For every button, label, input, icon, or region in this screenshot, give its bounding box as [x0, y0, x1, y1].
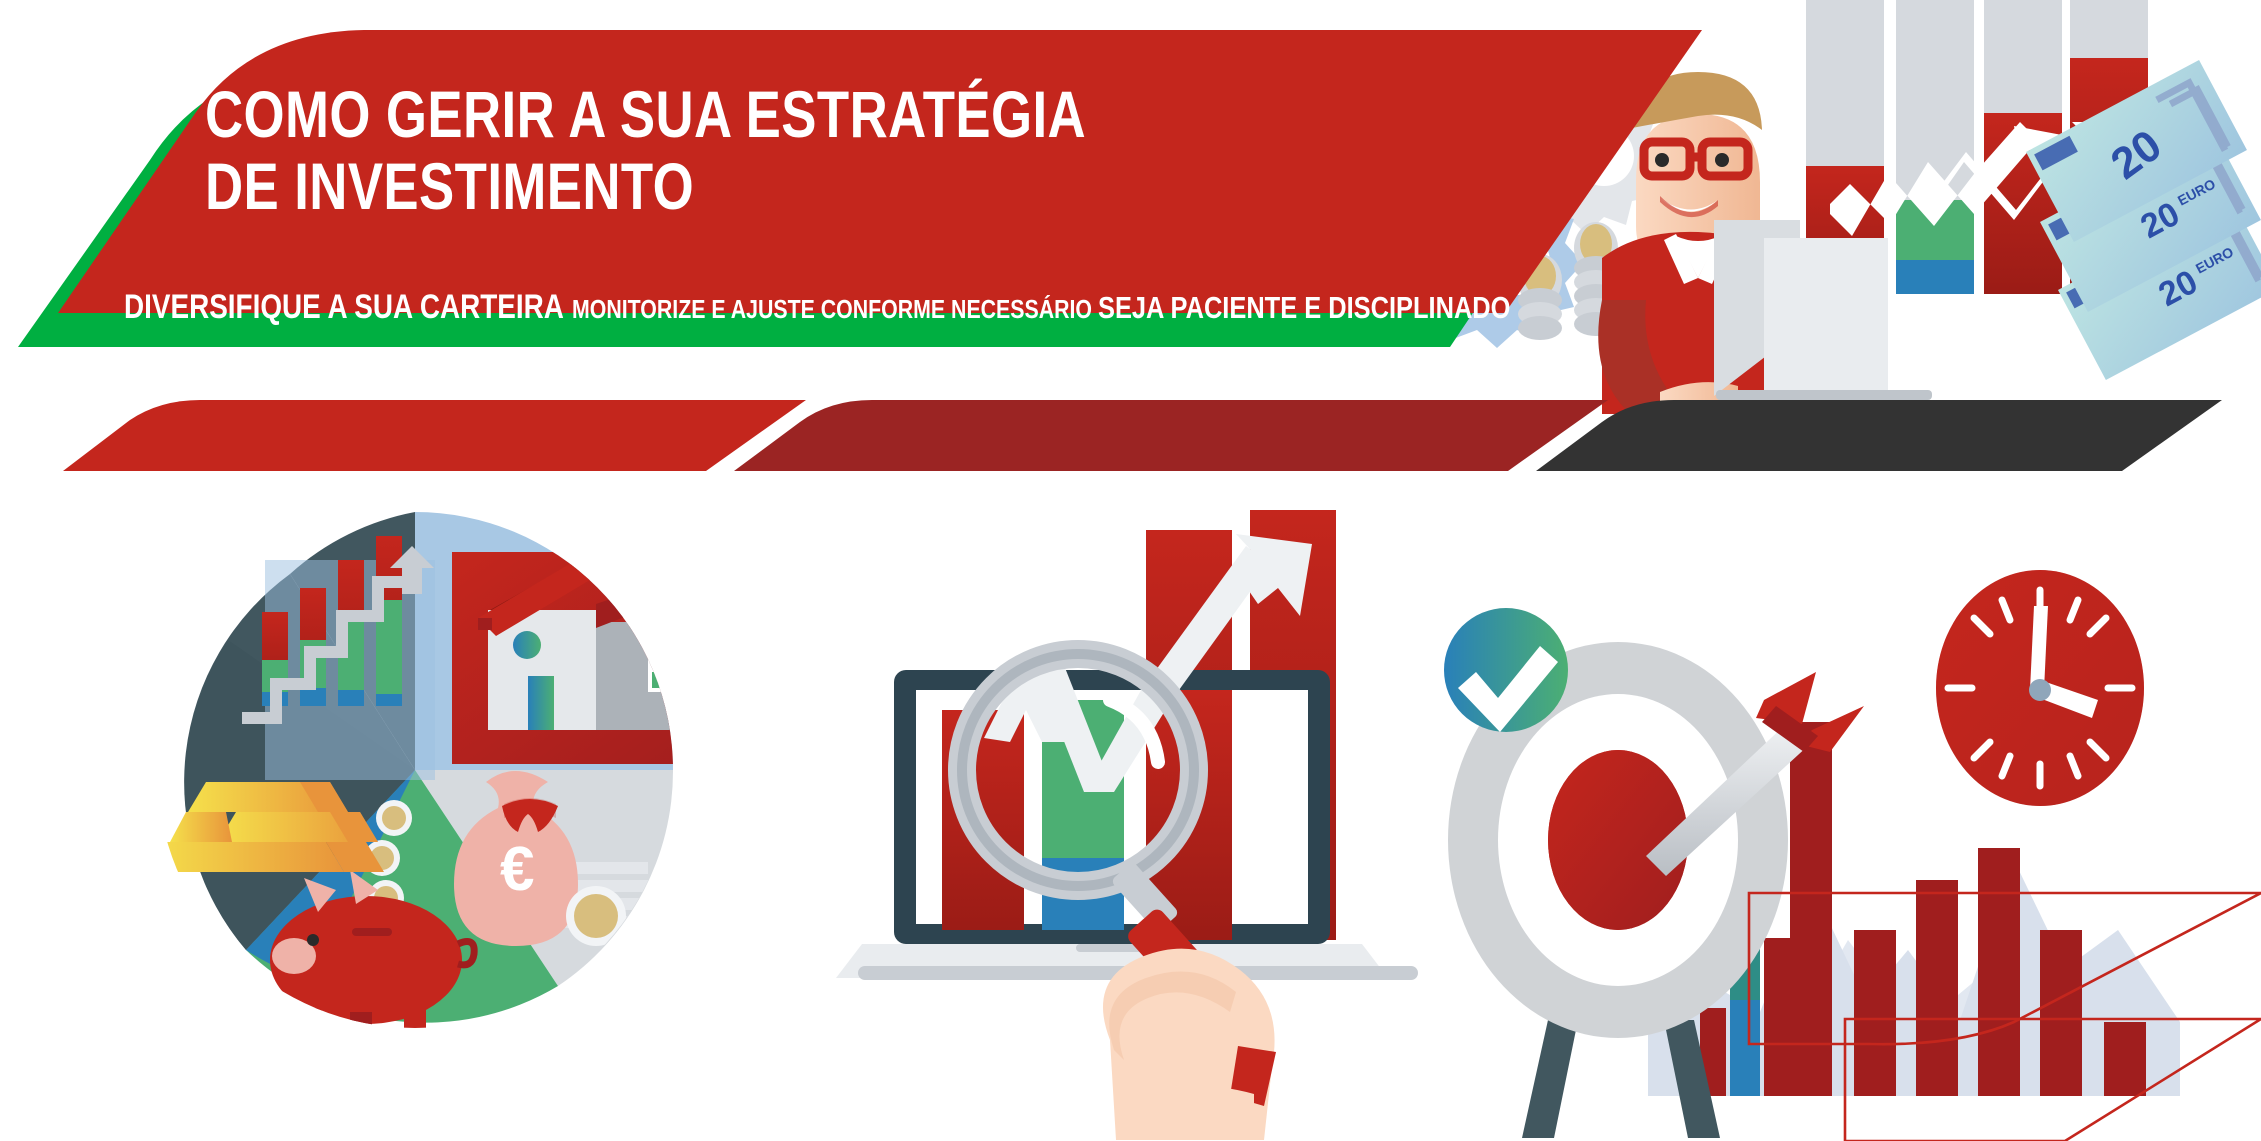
clock-icon: [1936, 570, 2144, 806]
diversify-pie-panel: €: [148, 512, 757, 1034]
ribbon-diversify: [63, 400, 806, 471]
header-red-banner: [58, 30, 1702, 313]
bar-chart-growth-icon: [242, 536, 435, 780]
house-icon: [452, 546, 757, 764]
ribbon-monitor: [734, 400, 1608, 471]
ribbon-patience: [1536, 400, 2222, 471]
check-circle-icon: [1444, 608, 1568, 732]
infographic-artwork: 20 EURO 20 EURO: [0, 0, 2261, 1141]
infographic-canvas: 20 EURO 20 EURO: [0, 0, 2261, 1141]
header-banner: [18, 30, 1702, 347]
patience-target-panel: [1444, 570, 2180, 1138]
monitor-laptop-panel: [836, 510, 1418, 1140]
svg-text:€: €: [500, 835, 534, 904]
portfolio-pie-chart: €: [148, 512, 757, 1034]
ribbon-bar[interactable]: [63, 400, 2222, 471]
